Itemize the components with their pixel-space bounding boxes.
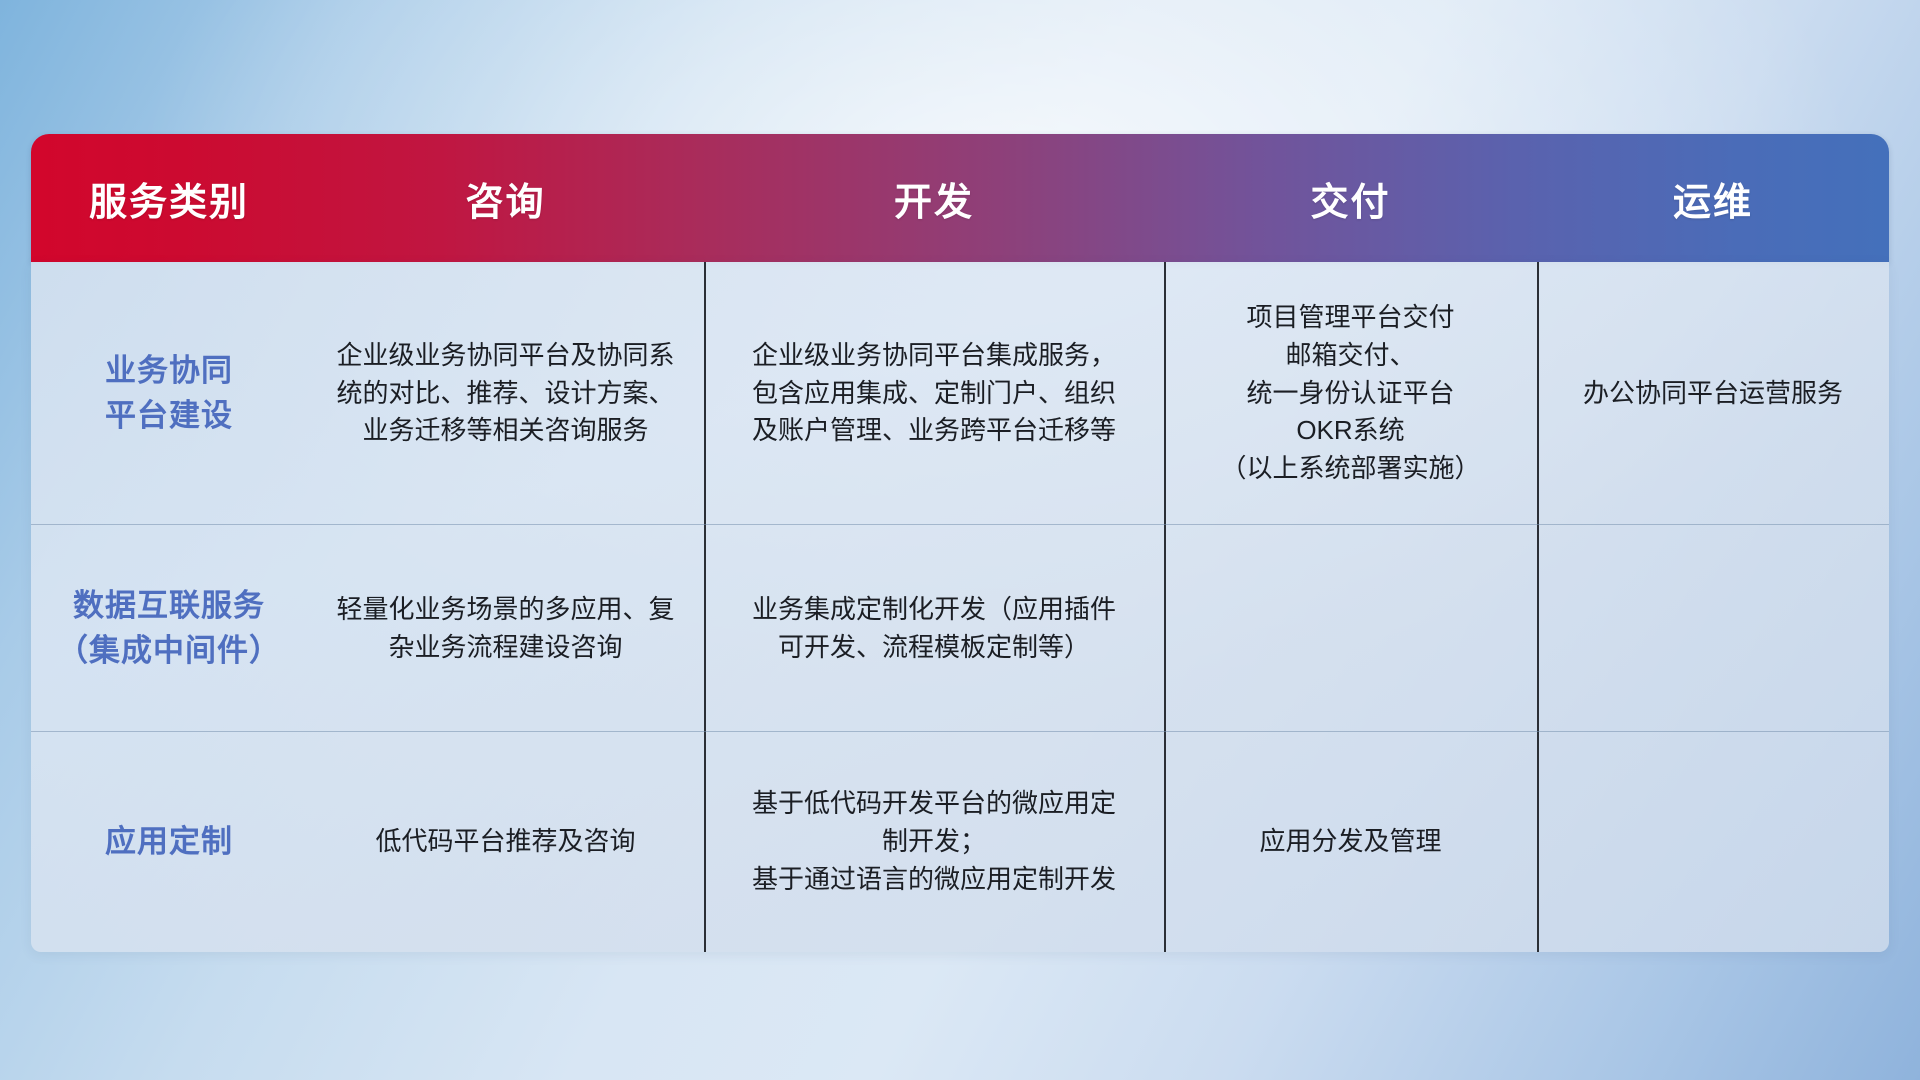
column-header-delivery: 交付	[1164, 171, 1537, 226]
row-category-cell: 业务协同 平台建设	[31, 262, 307, 525]
table-row: 数据互联服务 （集成中间件） 轻量化业务场景的多应用、复 杂业务流程建设咨询 业…	[31, 525, 1889, 732]
cell-text: 低代码平台推荐及咨询	[375, 823, 635, 861]
column-header-development: 开发	[704, 171, 1164, 226]
cell-text: 业务集成定制化开发（应用插件 可开发、流程模板定制等）	[752, 591, 1116, 666]
cell-delivery: 应用分发及管理	[1164, 732, 1537, 952]
row-category-label: 数据互联服务 （集成中间件）	[57, 584, 281, 672]
cell-operations	[1537, 732, 1889, 952]
table-row: 应用定制 低代码平台推荐及咨询 基于低代码开发平台的微应用定 制开发； 基于通过…	[31, 732, 1889, 952]
cell-text: 基于低代码开发平台的微应用定 制开发； 基于通过语言的微应用定制开发	[752, 785, 1116, 898]
table-header-row: 服务类别 咨询 开发 交付 运维	[31, 134, 1889, 262]
table-body: 业务协同 平台建设 企业级业务协同平台及协同系 统的对比、推荐、设计方案、 业务…	[31, 262, 1889, 952]
cell-text: 办公协同平台运营服务	[1583, 375, 1843, 413]
column-header-category: 服务类别	[31, 171, 307, 226]
cell-text: 应用分发及管理	[1259, 823, 1441, 861]
service-matrix-table: 服务类别 咨询 开发 交付 运维 业务协同 平台建设 企业级业务协同平台及协同系…	[31, 134, 1889, 952]
cell-consulting: 低代码平台推荐及咨询	[307, 732, 704, 952]
cell-consulting: 轻量化业务场景的多应用、复 杂业务流程建设咨询	[307, 525, 704, 732]
slide-canvas: 服务类别 咨询 开发 交付 运维 业务协同 平台建设 企业级业务协同平台及协同系…	[0, 0, 1920, 1080]
cell-consulting: 企业级业务协同平台及协同系 统的对比、推荐、设计方案、 业务迁移等相关咨询服务	[307, 262, 704, 525]
cell-operations	[1537, 525, 1889, 732]
cell-delivery: 项目管理平台交付 邮箱交付、 统一身份认证平台 OKR系统 （以上系统部署实施）	[1164, 262, 1537, 525]
table-row: 业务协同 平台建设 企业级业务协同平台及协同系 统的对比、推荐、设计方案、 业务…	[31, 262, 1889, 525]
column-header-operations: 运维	[1537, 171, 1889, 226]
cell-delivery	[1164, 525, 1537, 732]
cell-text: 企业级业务协同平台及协同系 统的对比、推荐、设计方案、 业务迁移等相关咨询服务	[336, 337, 674, 450]
row-category-cell: 数据互联服务 （集成中间件）	[31, 525, 307, 732]
row-category-cell: 应用定制	[31, 732, 307, 952]
cell-development: 基于低代码开发平台的微应用定 制开发； 基于通过语言的微应用定制开发	[704, 732, 1164, 952]
cell-development: 企业级业务协同平台集成服务， 包含应用集成、定制门户、组织 及账户管理、业务跨平…	[704, 262, 1164, 525]
cell-development: 业务集成定制化开发（应用插件 可开发、流程模板定制等）	[704, 525, 1164, 732]
cell-text: 轻量化业务场景的多应用、复 杂业务流程建设咨询	[336, 591, 674, 666]
column-header-consulting: 咨询	[307, 171, 704, 226]
cell-operations: 办公协同平台运营服务	[1537, 262, 1889, 525]
row-category-label: 业务协同 平台建设	[105, 349, 233, 437]
cell-text: 项目管理平台交付 邮箱交付、 统一身份认证平台 OKR系统 （以上系统部署实施）	[1220, 299, 1480, 487]
cell-text: 企业级业务协同平台集成服务， 包含应用集成、定制门户、组织 及账户管理、业务跨平…	[752, 337, 1116, 450]
row-category-label: 应用定制	[105, 820, 233, 864]
